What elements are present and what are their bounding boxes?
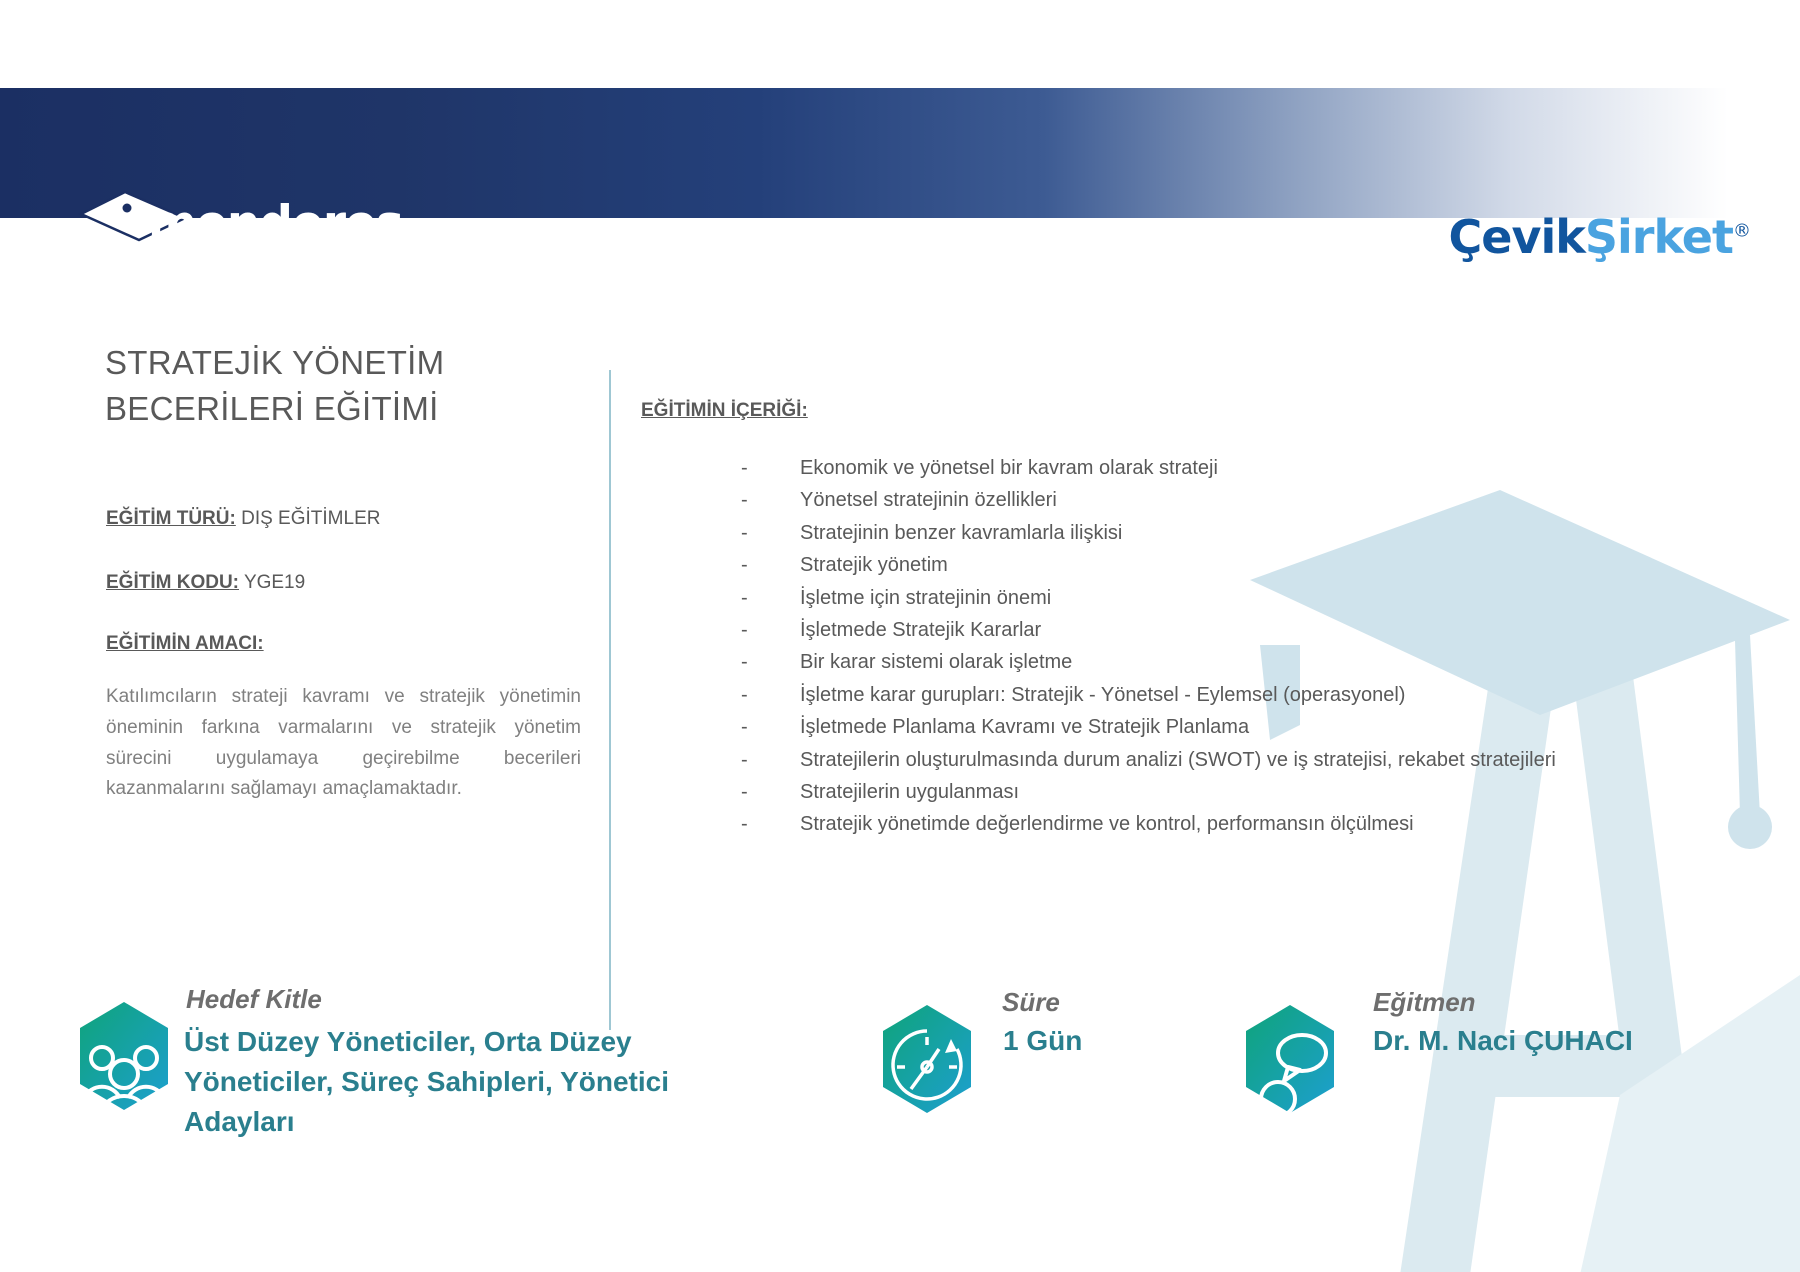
target-audience-label: Hedef Kitle [186,984,322,1015]
logo-sirket-part: Şirket [1585,210,1733,264]
duration-label: Süre [1002,987,1060,1018]
content-list-item: -Yönetsel stratejinin özellikleri [741,484,1721,516]
people-group-icon [74,1000,174,1117]
registered-mark-icon: ® [1733,221,1750,242]
content-list-item-label: İşletme için stratejinin önemi [800,587,1051,609]
content-list-item-label: İşletmede Planlama Kavramı ve Stratejik … [800,716,1249,738]
content-list: -Ekonomik ve yönetsel bir kavram olarak … [741,452,1721,841]
purpose-label: EĞİTİMİN AMACI: [106,633,264,654]
content-list-item-label: Bir karar sistemi olarak işletme [800,651,1072,673]
list-bullet-dash: - [741,614,748,646]
course-info-sheet: menderes AKADEMİ ÇevikŞirket® STRATEJİK … [0,0,1800,1272]
training-code-row: EĞİTİM KODU: YGE19 [106,572,305,594]
list-bullet-dash: - [741,549,748,581]
list-bullet-dash: - [741,776,748,808]
trainer-label: Eğitmen [1373,987,1476,1018]
trainer-value: Dr. M. Naci ÇUHACI [1373,1025,1633,1057]
logo-akademi-word: AKADEMİ [103,234,360,298]
training-code-value: YGE19 [244,572,305,593]
list-bullet-dash: - [741,646,748,678]
content-list-item: -Bir karar sistemi olarak işletme [741,646,1721,678]
list-bullet-dash: - [741,711,748,743]
duration-value: 1 Gün [1003,1025,1082,1057]
speech-bubble-icon [1240,1003,1340,1120]
list-bullet-dash: - [741,484,748,516]
content-heading: EĞİTİMİN İÇERİĞİ: [641,400,808,422]
list-bullet-dash: - [741,452,748,484]
clock-icon [877,1003,977,1120]
content-list-item: -Stratejik yönetim [741,549,1721,581]
column-divider [609,370,611,1030]
content-list-item: -İşletmede Planlama Kavramı ve Stratejik… [741,711,1721,743]
content-list-item: -İşletme karar gurupları: Stratejik - Yö… [741,679,1721,711]
content-list-item: -Stratejinin benzer kavramlarla ilişkisi [741,517,1721,549]
content-list-item-label: İşletme karar gurupları: Stratejik - Yön… [800,684,1405,706]
content-list-item: -Stratejilerin oluşturulmasında durum an… [741,744,1721,776]
list-bullet-dash: - [741,679,748,711]
list-bullet-dash: - [741,582,748,614]
training-type-row: EĞİTİM TÜRÜ: DIŞ EĞİTİMLER [106,508,380,530]
content-list-item-label: Yönetsel stratejinin özellikleri [800,489,1057,511]
content-list-item-label: Stratejilerin oluşturulmasında durum ana… [800,749,1556,771]
list-bullet-dash: - [741,744,748,776]
list-bullet-dash: - [741,808,748,840]
content-list-item: -İşletmede Stratejik Kararlar [741,614,1721,646]
content-list-item: -İşletme için stratejinin önemi [741,582,1721,614]
content-list-item-label: Stratejik yönetimde değerlendirme ve kon… [800,813,1414,835]
content-list-item: -Stratejilerin uygulanması [741,776,1721,808]
training-code-label: EĞİTİM KODU: [106,572,239,593]
purpose-paragraph: Katılımcıların strateji kavramı ve strat… [106,682,581,805]
content-list-item-label: Ekonomik ve yönetsel bir kavram olarak s… [800,457,1218,479]
content-list-item: -Stratejik yönetimde değerlendirme ve ko… [741,808,1721,840]
header-band: menderes AKADEMİ ÇevikŞirket® [0,88,1800,218]
list-bullet-dash: - [741,517,748,549]
training-type-label: EĞİTİM TÜRÜ: [106,508,236,529]
purpose-heading-row: EĞİTİMİN AMACI: [106,633,264,655]
content-list-item: -Ekonomik ve yönetsel bir kavram olarak … [741,452,1721,484]
cevik-sirket-logo: ÇevikŞirket® [1449,210,1750,264]
training-type-value: DIŞ EĞİTİMLER [241,508,380,529]
logo-cevik-part: Çevik [1449,210,1585,264]
content-list-item-label: Stratejilerin uygulanması [800,781,1019,803]
content-list-item-label: İşletmede Stratejik Kararlar [800,619,1041,641]
content-list-item-label: Stratejinin benzer kavramlarla ilişkisi [800,522,1122,544]
content-list-item-label: Stratejik yönetim [800,554,948,576]
target-audience-value: Üst Düzey Yöneticiler, Orta Düzey Yöneti… [184,1022,744,1141]
page-title: STRATEJİK YÖNETİM BECERİLERİ EĞİTİMİ [105,340,575,431]
